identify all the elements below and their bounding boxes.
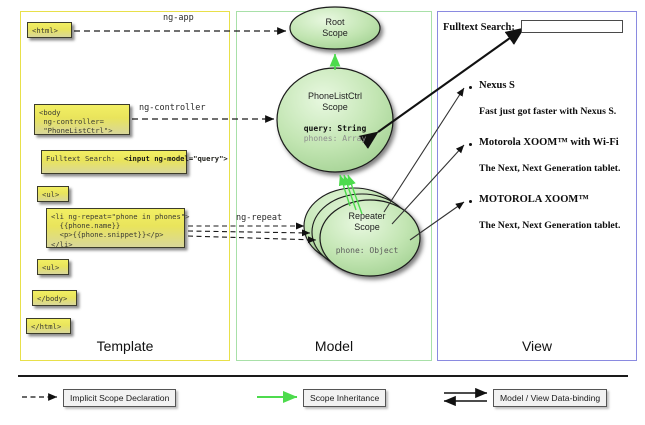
edge-ng-repeat-3 — [188, 236, 316, 240]
repeater-scope-stack — [304, 188, 420, 276]
edge-bind-item-0 — [384, 88, 464, 212]
code-box-html-close: </html> — [26, 318, 71, 334]
root-scope-node — [290, 7, 380, 49]
view-item-name: MOTOROLA XOOM™ — [479, 194, 589, 205]
legend-label-scope-inheritance: Scope Inheritance — [303, 389, 386, 407]
view-list-bullet — [469, 143, 472, 146]
edge-label-ng-repeat: ng-repeat — [236, 213, 282, 223]
edge-bind-item-1 — [392, 145, 464, 224]
view-item-snippet: The Next, Next Generation tablet. — [479, 220, 620, 231]
legend-divider — [18, 375, 628, 377]
code-search-input-markup: <input ng-model="query"> — [115, 154, 228, 163]
view-item-snippet: The Next, Next Generation tablet. — [479, 163, 620, 174]
view-search-input[interactable] — [521, 20, 623, 33]
angular-mvc-diagram: Template Model View — [0, 0, 645, 425]
code-box-search-input: Fulltext Search: <input ng-model="query"… — [41, 150, 187, 174]
code-box-ul-close: <ul> — [37, 259, 69, 275]
code-box-html-open: <html> — [27, 22, 72, 38]
view-list-bullet — [469, 86, 472, 89]
view-item-snippet: Fast just got faster with Nexus S. — [479, 106, 616, 117]
edge-label-ng-controller: ng-controller — [139, 103, 206, 113]
edge-label-ng-app: ng-app — [163, 13, 194, 23]
code-search-label: Fulltext Search: — [46, 154, 115, 163]
legend-label-model-view-data-binding: Model / View Data-binding — [493, 389, 607, 407]
code-box-ul-open: <ul> — [37, 186, 69, 202]
view-list-bullet — [469, 200, 472, 203]
phonelistctrl-scope-node — [277, 68, 393, 172]
view-item-name: Motorola XOOM™ with Wi-Fi — [479, 137, 619, 148]
code-box-body-close: </body> — [32, 290, 77, 306]
code-box-body-open: <body ng-controller= "PhoneListCtrl"> — [34, 104, 130, 135]
legend-label-implicit-scope-declaration: Implicit Scope Declaration — [63, 389, 176, 407]
view-search-label: Fulltext Search: — [443, 22, 515, 33]
code-box-li-repeat: <li ng-repeat="phone in phones"> {{phone… — [46, 208, 185, 248]
edge-bind-item-2 — [410, 202, 464, 240]
edge-ng-repeat-2 — [188, 231, 310, 233]
view-item-name: Nexus S — [479, 80, 515, 91]
